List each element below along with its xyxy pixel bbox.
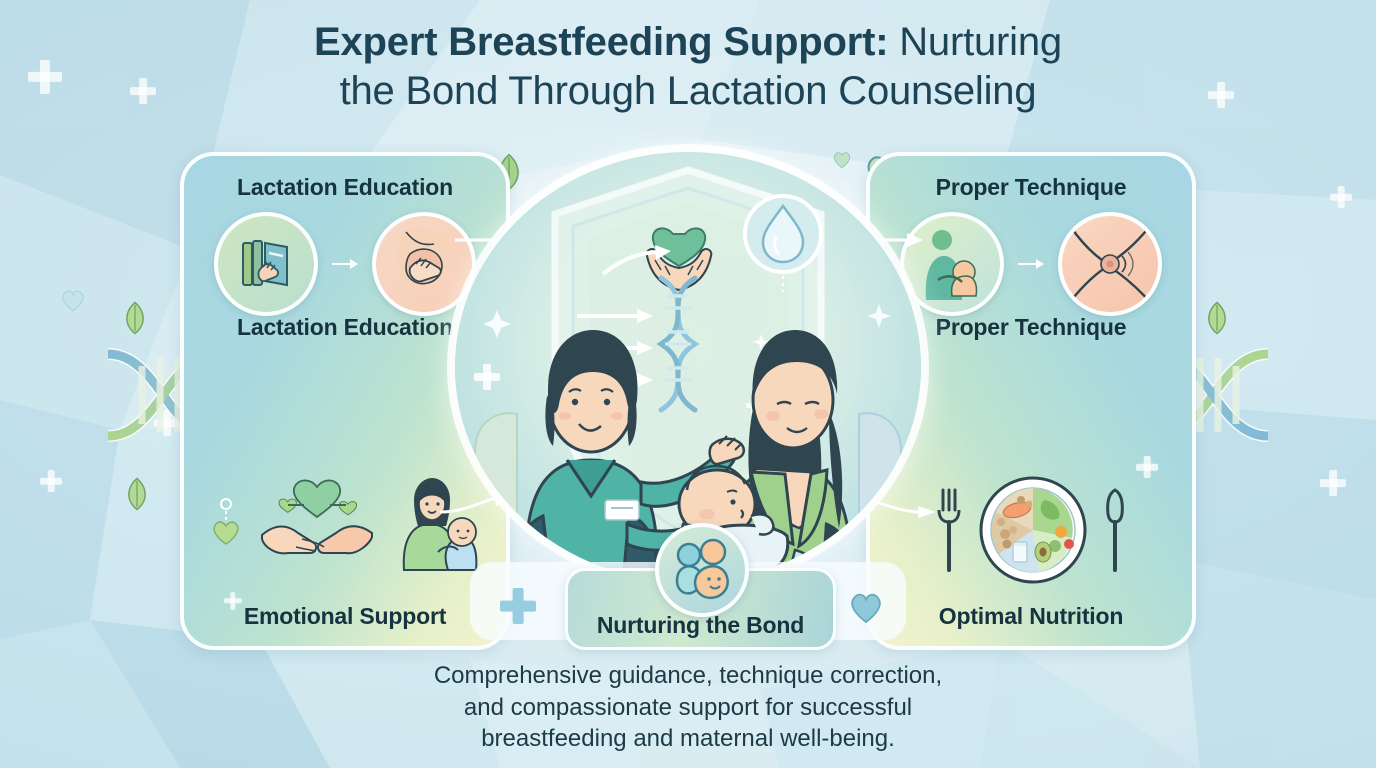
panel-left-bottom-caption: Emotional Support [184,603,506,630]
central-illustration [455,152,921,582]
panel-right-bottom-caption: Optimal Nutrition [870,603,1192,630]
leaf-icon [120,300,150,336]
latch-icon[interactable] [1058,212,1162,316]
arrow-right-icon [332,257,358,271]
balanced-plate-icon[interactable] [977,474,1089,586]
books-icon[interactable] [214,212,318,316]
mother-baby-icon[interactable] [390,474,482,572]
page-title: Expert Breastfeeding Support: Nurturing … [0,18,1376,116]
title-line2: the Bond Through Lactation Counseling [340,69,1037,113]
panel-left-top-caption: Lactation Education [184,174,506,201]
heart-icon [832,150,852,169]
title-regular: Nurturing [888,20,1062,64]
footer-line-1: Comprehensive guidance, technique correc… [0,660,1376,692]
leaf-icon [1202,300,1232,336]
leaf-icon [122,476,152,512]
handshake-heart-icon[interactable] [258,477,376,569]
medical-plus-icon [1330,186,1352,208]
title-bold: Expert Breastfeeding Support: [314,20,888,64]
medical-plus-icon [500,588,536,624]
arrow-right-icon [1018,257,1044,271]
knife-icon [1103,484,1127,576]
footer-caption: Comprehensive guidance, technique correc… [0,660,1376,755]
heart-icon [60,288,86,312]
heart-drop-icon [208,498,244,548]
medical-plus-icon [1320,470,1346,496]
infographic-canvas: Expert Breastfeeding Support: Nurturing … [0,0,1376,768]
medical-plus-icon [154,410,180,436]
footer-line-3: breastfeeding and maternal well-being. [0,723,1376,755]
footer-line-2: and compassionate support for successful [0,692,1376,724]
emotional-support-icon-row [184,474,506,572]
medical-plus-icon [40,470,62,492]
fork-icon [935,484,963,576]
panel-right-top-caption: Proper Technique [870,174,1192,201]
mother-baby-bond-icon[interactable] [655,523,749,617]
heart-icon [848,590,884,624]
